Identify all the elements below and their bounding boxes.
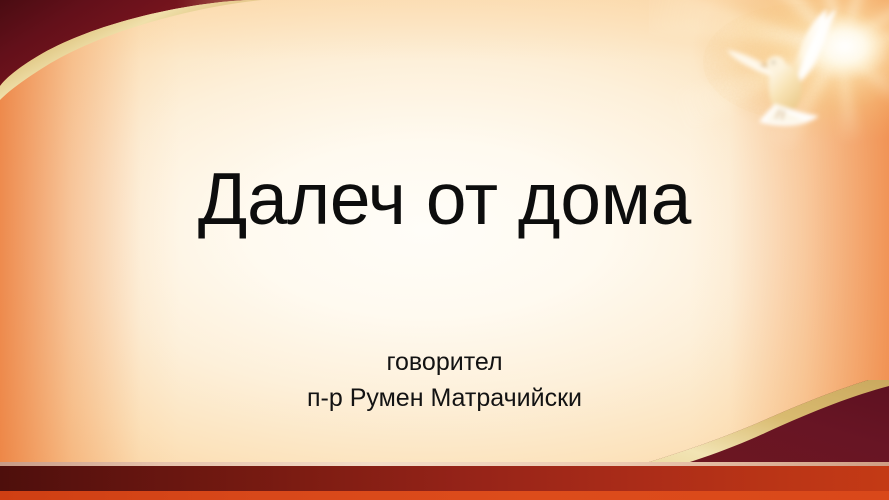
bottom-dark-band — [0, 466, 889, 491]
slide-title: Далеч от дома — [0, 163, 889, 237]
subtitle-line-role: говорител — [0, 345, 889, 381]
presentation-slide: Далеч от дома говорител п-р Румен Матрач… — [0, 0, 889, 500]
corner-swoosh-top-left-icon — [0, 0, 340, 150]
subtitle-line-speaker: п-р Румен Матрачийски — [0, 381, 889, 417]
bottom-accent-band — [0, 491, 889, 500]
slide-subtitle: говорител п-р Румен Матрачийски — [0, 345, 889, 416]
